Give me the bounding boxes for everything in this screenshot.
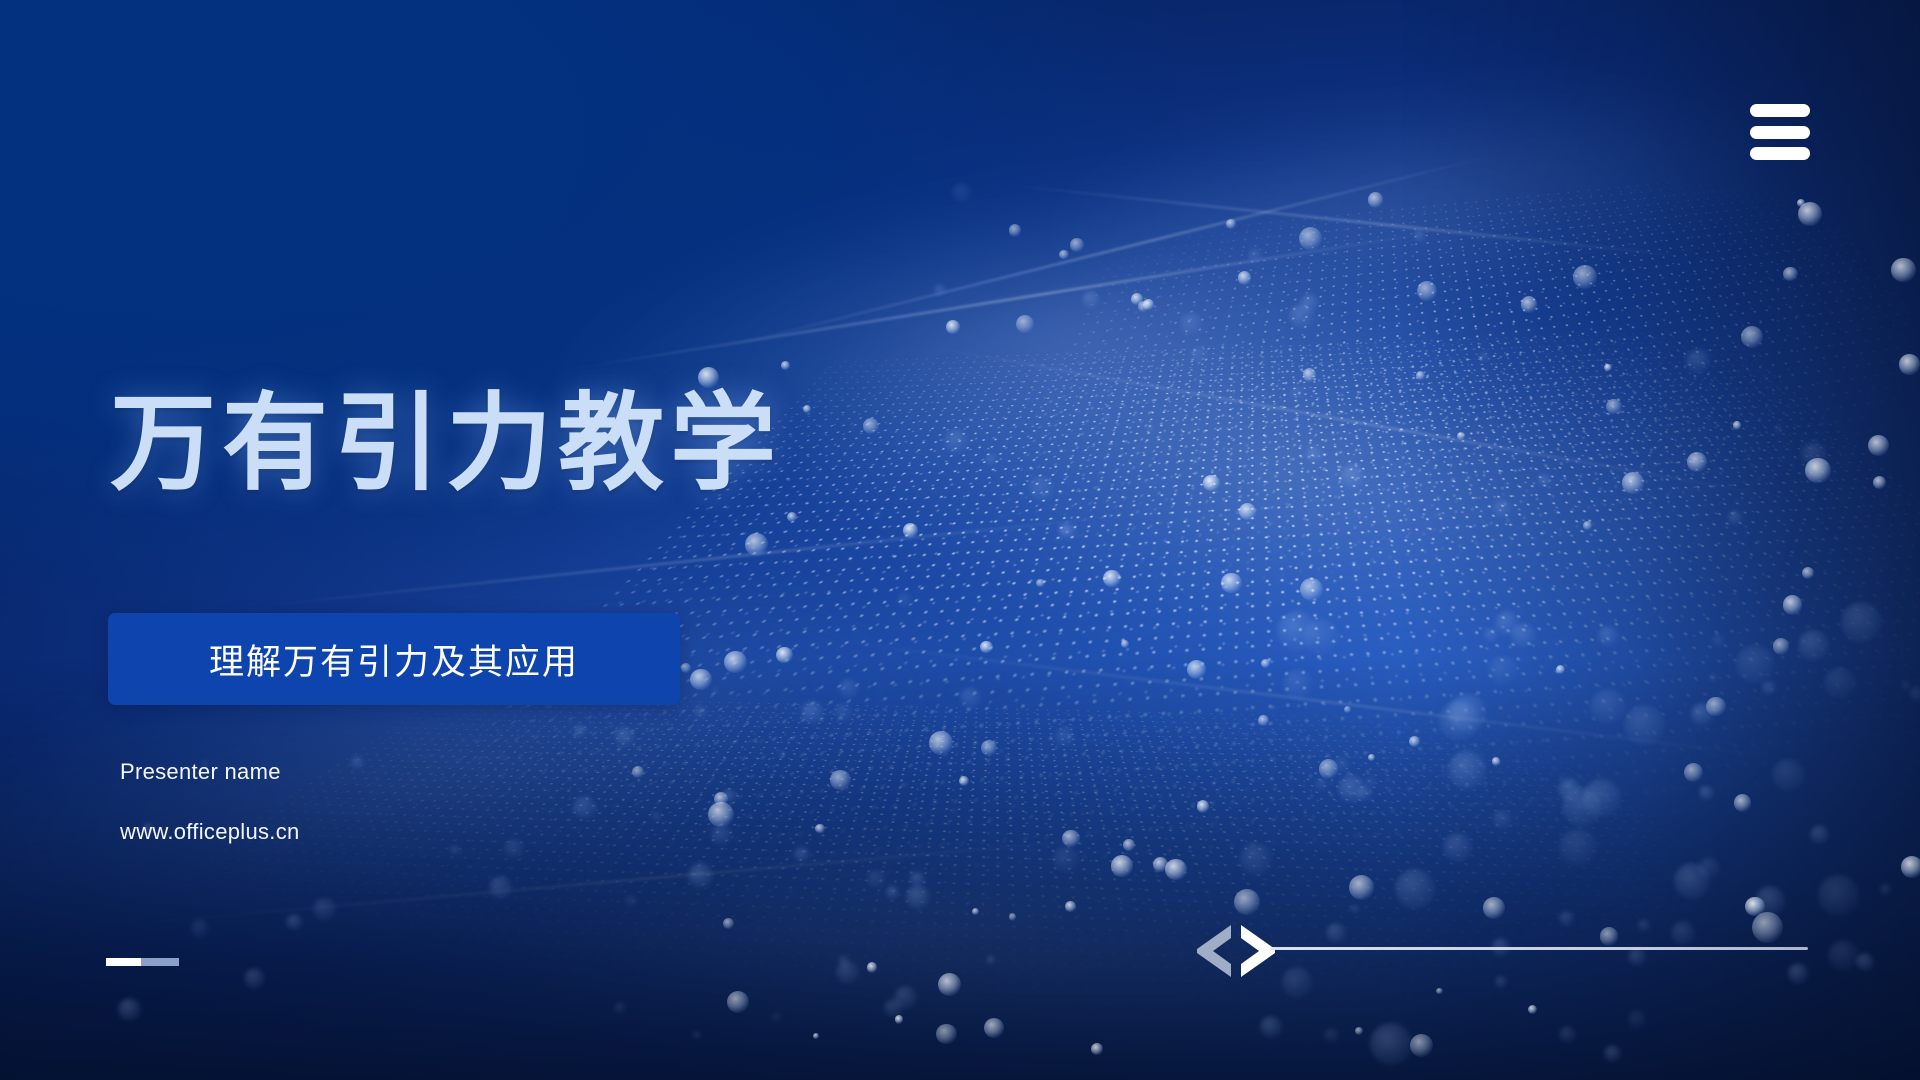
page-indicator-filled [106, 958, 141, 966]
hamburger-menu-icon[interactable] [1750, 104, 1810, 160]
slide-navigation [1197, 925, 1275, 977]
menu-bar-bottom [1750, 147, 1810, 160]
slide-subtitle-box: 理解万有引力及其应用 [108, 613, 680, 705]
background-bottom-vignette [0, 660, 1920, 1080]
presenter-name: Presenter name [120, 759, 281, 785]
menu-bar-middle [1750, 126, 1810, 139]
menu-bar-top [1750, 104, 1810, 117]
slide-title: 万有引力教学 [110, 391, 782, 497]
slide-subtitle-text: 理解万有引力及其应用 [209, 634, 579, 685]
page-progress-indicator [106, 958, 179, 966]
slide-progress-line[interactable] [1270, 947, 1808, 950]
chevron-left-icon[interactable] [1197, 925, 1231, 977]
presentation-slide: 万有引力教学 理解万有引力及其应用 Presenter name www.off… [0, 0, 1920, 1080]
page-indicator-remaining [141, 958, 179, 966]
chevron-right-icon[interactable] [1241, 925, 1275, 977]
presenter-website: www.officeplus.cn [120, 819, 300, 845]
